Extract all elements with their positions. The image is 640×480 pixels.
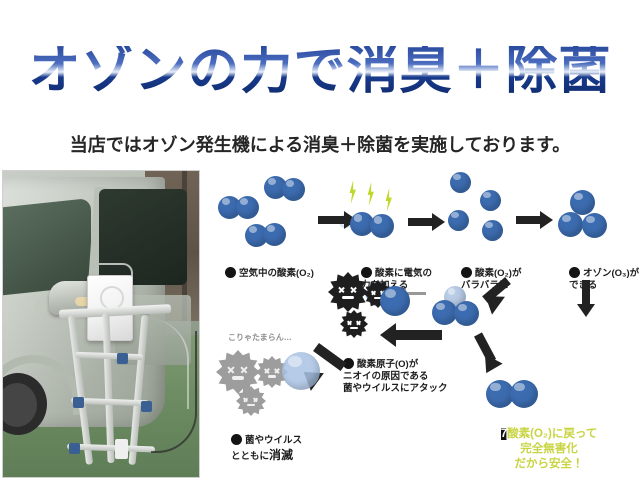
ozone-generator-photo xyxy=(2,170,200,478)
step1-label: 空気中の酸素(O₂) xyxy=(239,268,314,279)
step5-caption: 5酸素原子(O)が ニオイの原因である 菌やウイルスにアタック xyxy=(328,346,473,395)
step4-caption: 4オゾン(O₃)が できる xyxy=(554,255,640,292)
arrow-step4-into-ozone xyxy=(488,272,548,322)
spent-oxygen-atom xyxy=(282,352,320,390)
step6-caption: 6菌やウイルス とともに消滅 xyxy=(216,422,361,463)
o2-atom xyxy=(236,196,259,219)
photo-power-plug xyxy=(115,439,128,459)
step5-label: 酸素原子(O)が ニオイの原因である 菌やウイルスにアタック xyxy=(343,359,448,394)
arrow-to-step7 xyxy=(474,328,534,388)
step6-number: 6 xyxy=(231,434,242,445)
o2-atom xyxy=(510,380,538,408)
ozone-atom xyxy=(582,213,607,238)
step7-label: 酸素(O₂)に戻って 完全無害化 だから安全！ xyxy=(507,428,597,470)
photo-power-cable xyxy=(151,331,197,453)
ladder-rail-center xyxy=(102,313,114,463)
lightning-bolt-icon xyxy=(384,188,393,212)
oxygen-atom xyxy=(448,210,469,231)
step3-number: 3 xyxy=(461,267,472,278)
step6-mutter-text: こりゃたまらん… xyxy=(228,332,292,343)
page-title: オゾンの力で消臭＋除菌 xyxy=(0,46,640,98)
germ-icon xyxy=(340,310,368,338)
page-subtitle: 当店ではオゾン発生機による消臭＋除菌を実施しております。 xyxy=(0,131,640,157)
step6-label-emphasis: 消滅 xyxy=(269,448,293,462)
ladder-joint-1 xyxy=(73,397,84,408)
step4-number: 4 xyxy=(569,267,580,278)
oxygen-atom xyxy=(450,172,471,193)
ozone-process-diagram: one 1空気中の酸素(O₂) 2酸素に電気の xyxy=(198,168,640,480)
ozone-atom xyxy=(454,301,479,326)
lightning-bolt-icon xyxy=(366,182,375,206)
infographic-page: オゾンの力で消臭＋除菌 当店ではオゾン発生機による消臭＋除菌を実施しております。 xyxy=(0,0,640,480)
o2-atom xyxy=(370,214,394,238)
step1-caption: 1空気中の酸素(O₂) xyxy=(210,255,345,280)
o2-atom xyxy=(263,223,286,246)
ladder-joint-3 xyxy=(69,443,80,454)
lightning-bolt-icon xyxy=(348,180,357,204)
oxygen-atom xyxy=(482,220,503,241)
attacking-oxygen-atom xyxy=(380,286,410,316)
ozone-atom xyxy=(558,212,583,237)
dying-germ-icon xyxy=(236,386,266,416)
step7-caption: 7酸素(O₂)に戻って 完全無害化 だから安全！ xyxy=(474,412,624,472)
ozone-atom xyxy=(570,190,595,215)
o2-atom xyxy=(282,178,305,201)
oxygen-atom xyxy=(480,190,501,211)
germ-icon xyxy=(328,272,368,312)
step1-number: 1 xyxy=(225,267,236,278)
